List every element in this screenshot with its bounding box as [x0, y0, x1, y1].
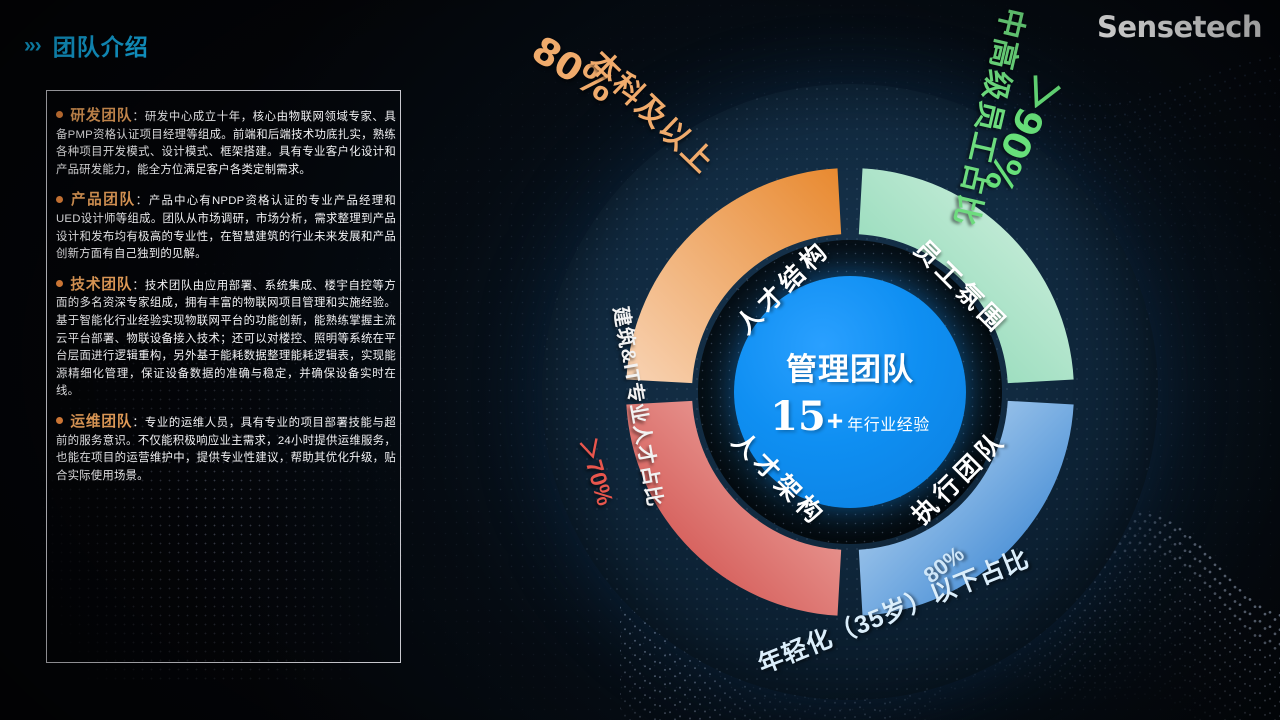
center-title: 管理团队	[786, 344, 914, 389]
bullet-dot-icon	[56, 280, 63, 287]
chevrons-icon: »›	[24, 35, 41, 56]
team-description-list: 研发团队：研发中心成立十年，核心由物联网领域专家、具备PMP资格认证项目经理等组…	[56, 108, 396, 498]
list-item-separator: ：	[136, 193, 149, 207]
bullet-dot-icon	[56, 111, 63, 118]
center-years-number: 15	[770, 393, 826, 440]
center-plus-sign: +	[827, 405, 843, 437]
list-item-heading: 产品团队	[70, 192, 136, 208]
page-title: 团队介绍	[53, 28, 149, 62]
list-item-separator: ：	[132, 109, 145, 123]
list-item: 产品团队：产品中心有NPDP资格认证的专业产品经理和UED设计师等组成。团队从市…	[56, 192, 396, 263]
bullet-dot-icon	[56, 417, 63, 424]
bullet-dot-icon	[56, 196, 63, 203]
list-item-body: 技术团队由应用部署、系统集成、楼宇自控等方面的多名资深专家组成，拥有丰富的物联网…	[56, 280, 396, 398]
list-item-heading: 运维团队	[70, 414, 132, 430]
center-subtitle: 15 + 年行业经验	[770, 393, 930, 440]
list-item-paragraph: 产品团队：产品中心有NPDP资格认证的专业产品经理和UED设计师等组成。团队从市…	[56, 192, 396, 263]
list-item: 技术团队：技术团队由应用部署、系统集成、楼宇自控等方面的多名资深专家组成，拥有丰…	[56, 277, 396, 401]
list-item-paragraph: 研发团队：研发中心成立十年，核心由物联网领域专家、具备PMP资格认证项目经理等组…	[56, 108, 396, 179]
list-item-heading: 研发团队	[70, 108, 132, 124]
brand-logo: Sensetech	[1097, 10, 1262, 44]
list-item: 运维团队：专业的运维人员，具有专业的项目部署技能与超前的服务意识。不仅能积极响应…	[56, 414, 396, 485]
team-donut-chart: 管理团队 15 + 年行业经验 人才结构 员工氛围 执行团队 人才架构 80% …	[530, 72, 1170, 712]
list-item-heading: 技术团队	[70, 277, 132, 293]
page-title-row: »› 团队介绍	[24, 28, 149, 62]
list-item-paragraph: 技术团队：技术团队由应用部署、系统集成、楼宇自控等方面的多名资深专家组成，拥有丰…	[56, 277, 396, 401]
list-item-separator: ：	[132, 415, 145, 429]
list-item-separator: ：	[132, 278, 145, 292]
list-item-paragraph: 运维团队：专业的运维人员，具有专业的项目部署技能与超前的服务意识。不仅能积极响应…	[56, 414, 396, 485]
list-item: 研发团队：研发中心成立十年，核心由物联网领域专家、具备PMP资格认证项目经理等组…	[56, 108, 396, 179]
slide-canvas: »› 团队介绍 Sensetech 研发团队：研发中心成立十年，核心由物联网领域…	[0, 0, 1280, 720]
center-years-unit: 年行业经验	[847, 411, 930, 435]
